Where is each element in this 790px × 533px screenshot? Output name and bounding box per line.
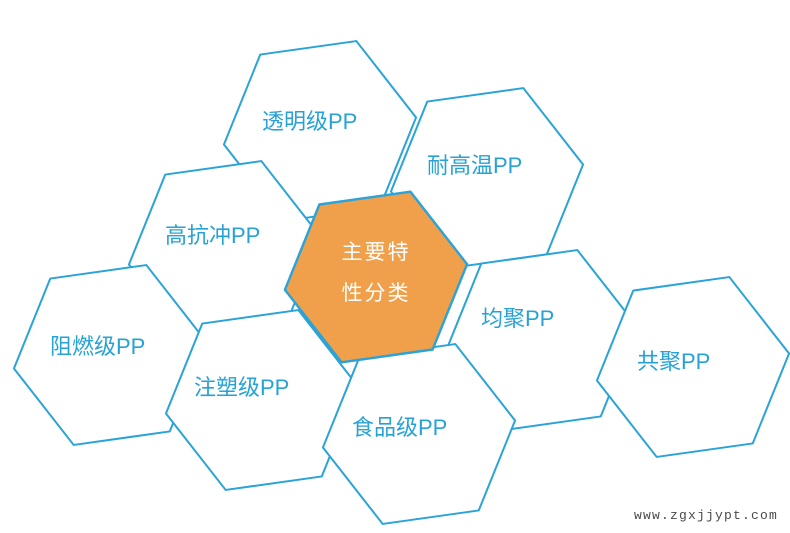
watermark-text: www.zgxjjypt.com	[634, 508, 778, 523]
hex-copolymer-pp[interactable]	[597, 277, 789, 457]
honeycomb-hexagons	[0, 0, 790, 533]
diagram-canvas: 透明级PP耐高温PP高抗冲PP均聚PP阻燃级PP共聚PP注塑级PP食品级PP 主…	[0, 0, 790, 533]
